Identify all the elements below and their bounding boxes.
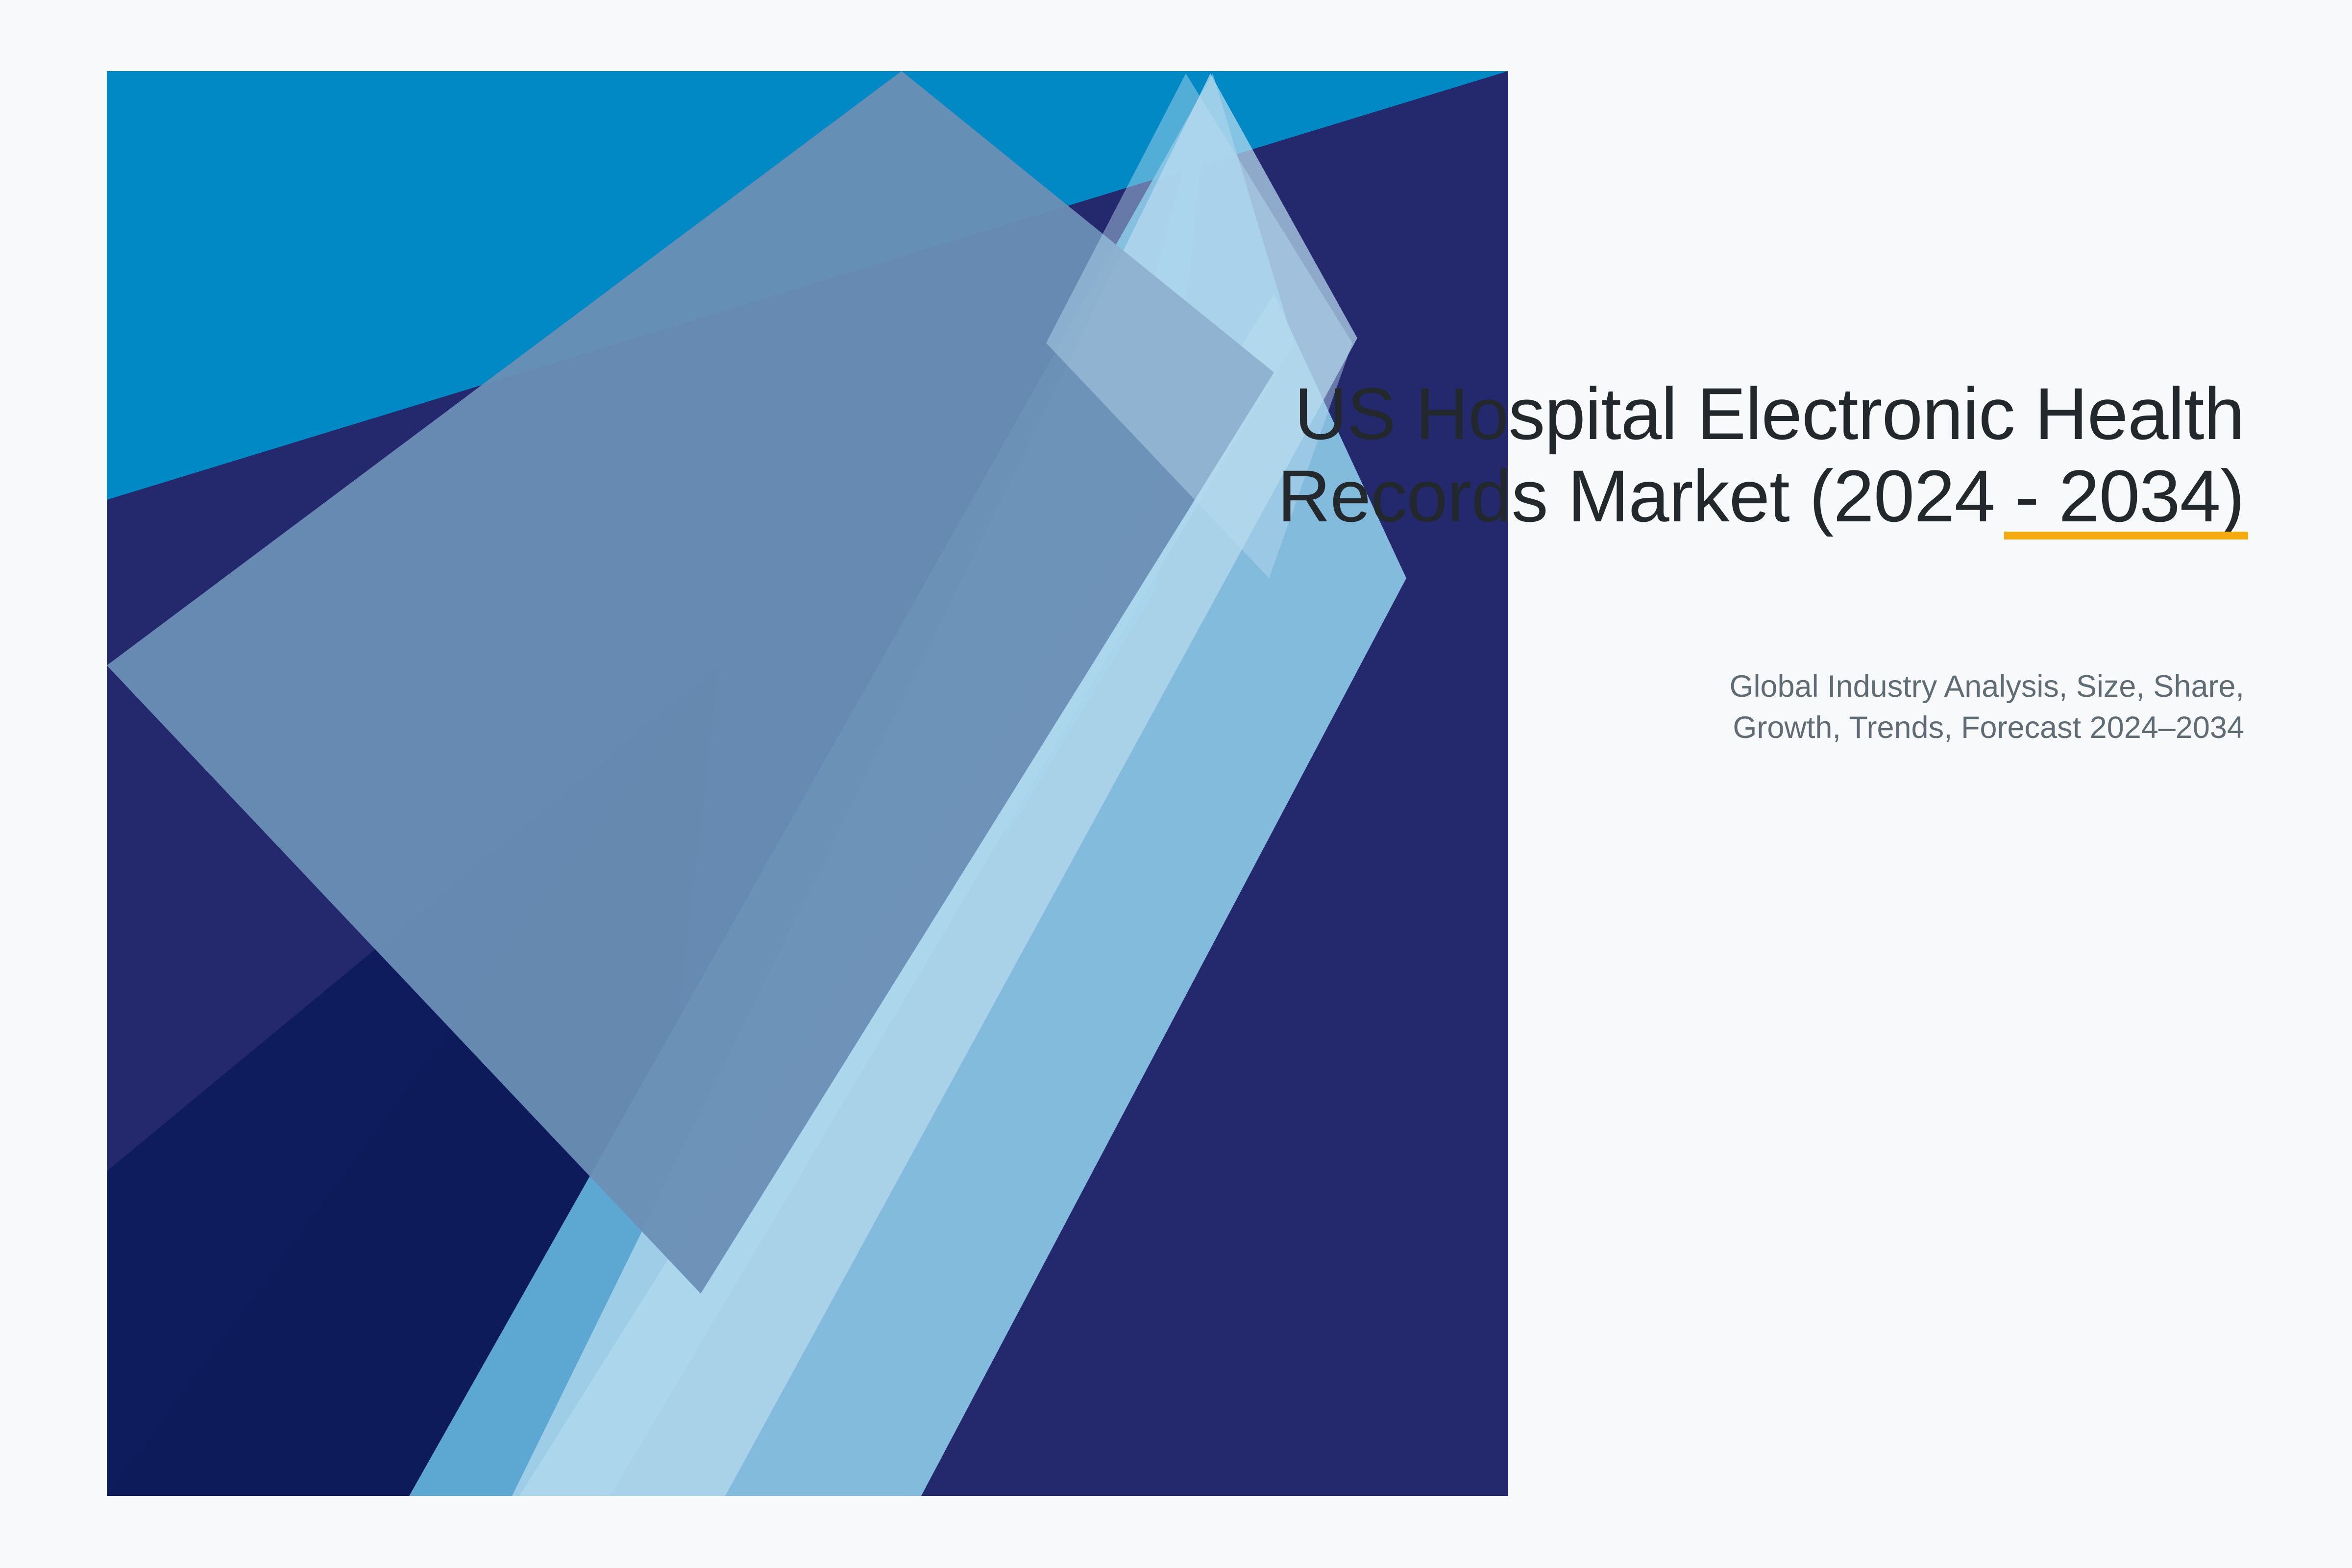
report-cover-slide: US Hospital Electronic Health Records Ma…	[0, 0, 2352, 1568]
title-accent-underline	[2004, 532, 2248, 539]
title-block: US Hospital Electronic Health Records Ma…	[1127, 372, 2244, 537]
page-subtitle: Global Industry Analysis, Size, Share, G…	[1127, 666, 2244, 749]
abstract-geometric-artwork	[0, 0, 2352, 1568]
page-title: US Hospital Electronic Health Records Ma…	[1127, 372, 2244, 537]
